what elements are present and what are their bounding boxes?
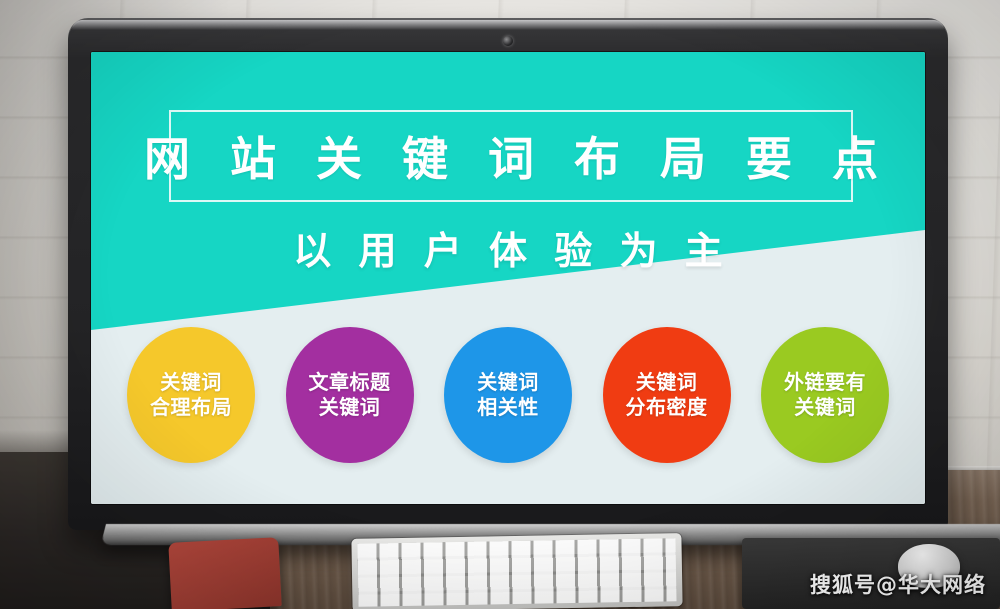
page-title: 网 站 关 键 词 布 局 要 点 <box>132 123 890 189</box>
bubble-keyword-layout: 关键词 合理布局 <box>127 327 255 463</box>
laptop-screen: 网 站 关 键 词 布 局 要 点 以 用 户 体 验 为 主 关键词 合理布局… <box>91 52 925 504</box>
bubble-line2: 关键词 <box>319 395 381 420</box>
bubble-line2: 相关性 <box>477 395 539 420</box>
bubble-line1: 文章标题 <box>309 370 391 395</box>
slide-teal-banner <box>91 52 925 362</box>
keyboard-keys <box>357 538 676 607</box>
watermark: 搜狐号@华大网络 <box>810 569 986 599</box>
keyboard <box>351 533 682 609</box>
slide-subtitle: 以 用 户 体 验 为 主 <box>91 220 925 275</box>
slide: 网 站 关 键 词 布 局 要 点 以 用 户 体 验 为 主 关键词 合理布局… <box>91 52 925 504</box>
photo-scene: 网 站 关 键 词 布 局 要 点 以 用 户 体 验 为 主 关键词 合理布局… <box>0 0 1000 609</box>
webcam-icon <box>503 36 513 46</box>
bubble-outbound-link-keyword: 外链要有 关键词 <box>761 327 889 463</box>
bubble-keyword-relevance: 关键词 相关性 <box>444 327 572 463</box>
bubble-line1: 关键词 <box>160 370 222 395</box>
laptop-lid-highlight <box>72 20 944 30</box>
bubble-line1: 关键词 <box>477 370 539 395</box>
laptop: 网 站 关 键 词 布 局 要 点 以 用 户 体 验 为 主 关键词 合理布局… <box>68 18 948 530</box>
bubble-article-title-keyword: 文章标题 关键词 <box>286 327 414 463</box>
bubble-line1: 外链要有 <box>784 370 866 395</box>
red-notebook <box>168 537 281 609</box>
bubble-line2: 关键词 <box>794 395 856 420</box>
bubble-line2: 合理布局 <box>150 395 232 420</box>
bubble-line1: 关键词 <box>636 370 698 395</box>
bubble-keyword-density: 关键词 分布密度 <box>603 327 731 463</box>
slide-title-frame: 网 站 关 键 词 布 局 要 点 <box>169 110 853 202</box>
bubble-line2: 分布密度 <box>626 395 708 420</box>
bubble-row: 关键词 合理布局 文章标题 关键词 关键词 相关性 关键词 分布密度 <box>127 320 889 470</box>
